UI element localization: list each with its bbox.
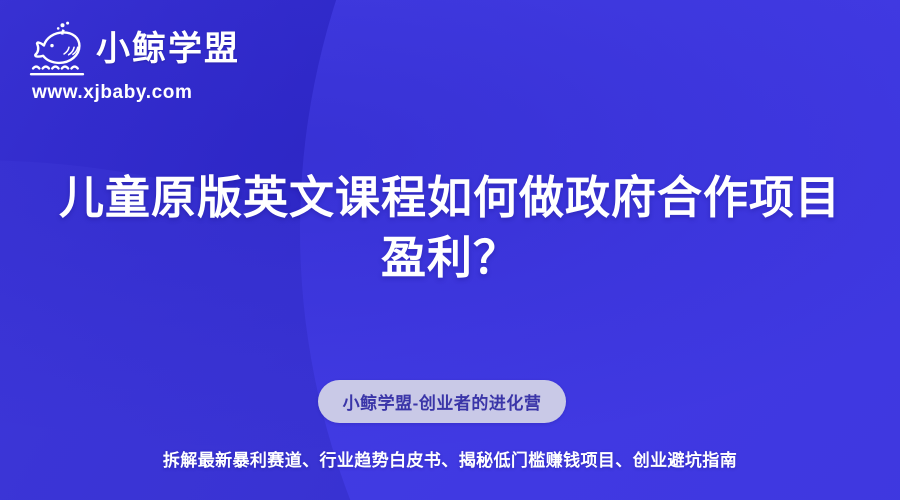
brand-logo-block: 小鲸学盟 www.xjbaby.com — [26, 20, 286, 104]
whale-logo-icon — [26, 20, 88, 78]
status-badge-label: 小鲸学盟-创业者的进化营 — [343, 389, 542, 414]
page-title-line-1: 儿童原版英文课程如何做政府合作项目 — [50, 168, 850, 228]
status-badge: 小鲸学盟-创业者的进化营 — [318, 380, 566, 423]
brand-logo-row: 小鲸学盟 — [26, 20, 286, 78]
brand-url: www.xjbaby.com — [32, 82, 286, 104]
footer-tagline: 拆解最新暴利赛道、行业趋势白皮书、揭秘低门槛赚钱项目、创业避坑指南 — [0, 446, 900, 471]
page-title: 儿童原版英文课程如何做政府合作项目 盈利？ — [50, 168, 850, 289]
page-title-line-2: 盈利？ — [50, 228, 850, 288]
promo-banner: 小鲸学盟 www.xjbaby.com 儿童原版英文课程如何做政府合作项目 盈利… — [0, 0, 900, 500]
brand-name: 小鲸学盟 — [96, 32, 240, 66]
